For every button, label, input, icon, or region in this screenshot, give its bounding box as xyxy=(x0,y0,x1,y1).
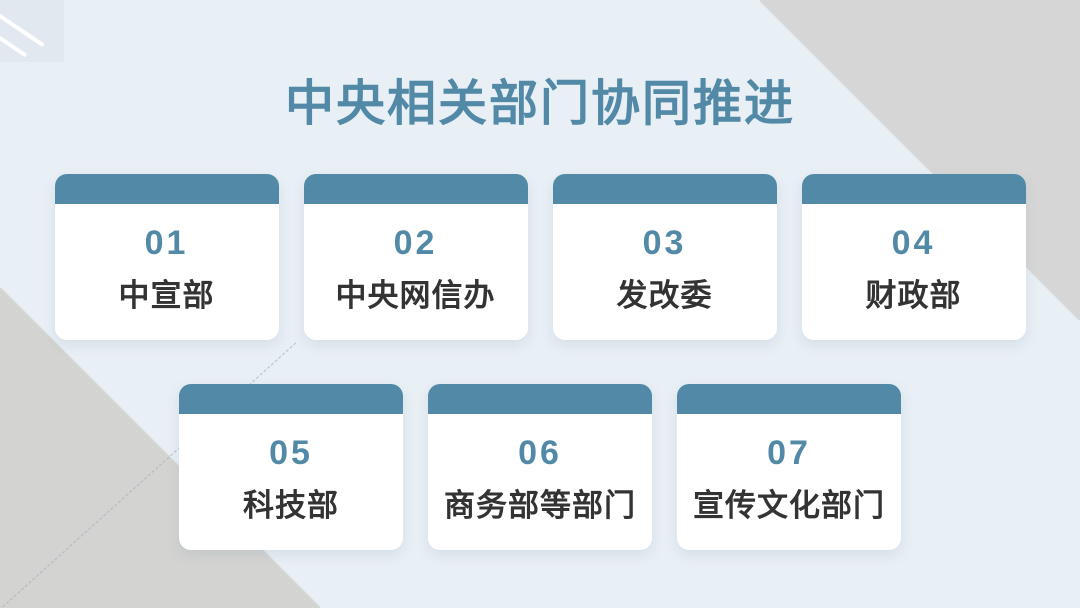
department-card[interactable]: 02 中央网信办 xyxy=(304,174,528,340)
card-number: 04 xyxy=(892,226,936,260)
card-label: 财政部 xyxy=(866,280,962,311)
card-number: 06 xyxy=(518,436,562,470)
department-card[interactable]: 07 宣传文化部门 xyxy=(677,384,901,550)
decor-stripe-icon xyxy=(0,10,45,47)
department-card[interactable]: 05 科技部 xyxy=(179,384,403,550)
card-header-bar xyxy=(553,174,777,204)
decor-stripe-icon xyxy=(0,28,27,57)
card-header-bar xyxy=(428,384,652,414)
card-label: 科技部 xyxy=(243,490,339,521)
card-number: 01 xyxy=(145,226,189,260)
card-label: 中宣部 xyxy=(119,280,215,311)
card-label: 商务部等部门 xyxy=(444,490,636,521)
card-number: 05 xyxy=(269,436,313,470)
card-header-bar xyxy=(802,174,1026,204)
card-number: 03 xyxy=(643,226,687,260)
department-card[interactable]: 04 财政部 xyxy=(802,174,1026,340)
department-card[interactable]: 01 中宣部 xyxy=(55,174,279,340)
department-card[interactable]: 03 发改委 xyxy=(553,174,777,340)
card-header-bar xyxy=(677,384,901,414)
slide-canvas: 中央相关部门协同推进 01 中宣部 02 中央网信办 03 发改委 04 财政部… xyxy=(0,0,1080,608)
card-row-first: 01 中宣部 02 中央网信办 03 发改委 04 财政部 xyxy=(0,174,1080,340)
card-row-second: 05 科技部 06 商务部等部门 07 宣传文化部门 xyxy=(0,384,1080,550)
card-label: 发改委 xyxy=(617,280,713,311)
department-card[interactable]: 06 商务部等部门 xyxy=(428,384,652,550)
card-number: 07 xyxy=(767,436,811,470)
card-header-bar xyxy=(179,384,403,414)
card-header-bar xyxy=(55,174,279,204)
card-number: 02 xyxy=(394,226,438,260)
card-label: 宣传文化部门 xyxy=(693,490,885,521)
card-header-bar xyxy=(304,174,528,204)
top-left-decor-square xyxy=(0,0,64,62)
page-title: 中央相关部门协同推进 xyxy=(0,78,1080,132)
card-label: 中央网信办 xyxy=(336,280,496,311)
